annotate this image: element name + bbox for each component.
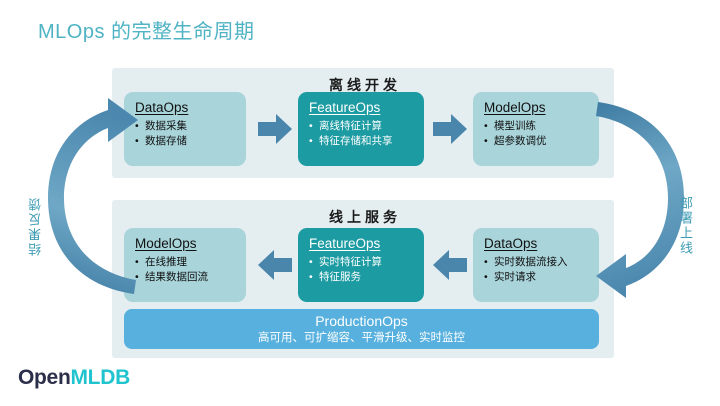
arrow-left-icon xyxy=(433,249,467,281)
bullet-item: 在线推理 xyxy=(135,255,246,270)
production-ops-title: ProductionOps xyxy=(124,312,599,330)
bullet-item: 结果数据回流 xyxy=(135,270,246,285)
bullet-item: 特征服务 xyxy=(309,270,424,285)
card-title: DataOps xyxy=(135,99,246,116)
card-bullet-list: 模型训练 超参数调优 xyxy=(484,119,599,149)
card-bullet-list: 实时特征计算 特征服务 xyxy=(309,255,424,285)
bullet-item: 实时请求 xyxy=(484,270,599,285)
card-online-dataops[interactable]: DataOps 实时数据流接入 实时请求 xyxy=(473,228,599,302)
bullet-item: 实时特征计算 xyxy=(309,255,424,270)
card-offline-featureops[interactable]: FeatureOps 离线特征计算 特征存储和共享 xyxy=(298,92,424,166)
bullet-item: 超参数调优 xyxy=(484,134,599,149)
feedback-curved-arrow-icon xyxy=(42,98,138,298)
arrow-right-icon xyxy=(433,113,467,145)
card-bullet-list: 实时数据流接入 实时请求 xyxy=(484,255,599,285)
label-result-feedback: 结果反馈 xyxy=(26,196,45,256)
card-title: FeatureOps xyxy=(309,99,424,116)
card-online-modelops[interactable]: ModelOps 在线推理 结果数据回流 xyxy=(124,228,246,302)
card-title: FeatureOps xyxy=(309,235,424,252)
openmldb-logo: OpenMLDB xyxy=(18,366,130,390)
card-offline-modelops[interactable]: ModelOps 模型训练 超参数调优 xyxy=(473,92,599,166)
bullet-item: 实时数据流接入 xyxy=(484,255,599,270)
card-bullet-list: 离线特征计算 特征存储和共享 xyxy=(309,119,424,149)
logo-text-open: Open xyxy=(18,366,70,389)
card-title: DataOps xyxy=(484,235,599,252)
label-deploy-online: 部署上线 xyxy=(676,196,695,256)
bullet-item: 离线特征计算 xyxy=(309,119,424,134)
page-title: MLOps 的完整生命周期 xyxy=(38,15,255,44)
card-bullet-list: 数据采集 数据存储 xyxy=(135,119,246,149)
online-panel-title: 线上服务 xyxy=(112,207,614,227)
production-ops-subtitle: 高可用、可扩缩容、平滑升级、实时监控 xyxy=(124,330,599,346)
production-ops-bar[interactable]: ProductionOps 高可用、可扩缩容、平滑升级、实时监控 xyxy=(124,309,599,349)
card-bullet-list: 在线推理 结果数据回流 xyxy=(135,255,246,285)
logo-text-mldb: MLDB xyxy=(70,366,129,389)
bullet-item: 模型训练 xyxy=(484,119,599,134)
bullet-item: 数据采集 xyxy=(135,119,246,134)
bullet-item: 特征存储和共享 xyxy=(309,134,424,149)
card-title: ModelOps xyxy=(135,235,246,252)
arrow-left-icon xyxy=(258,249,292,281)
card-online-featureops[interactable]: FeatureOps 实时特征计算 特征服务 xyxy=(298,228,424,302)
arrow-right-icon xyxy=(258,113,292,145)
slide-canvas: MLOps 的完整生命周期 离线开发 DataOps 数据采集 数据存储 Fea… xyxy=(0,0,720,406)
card-offline-dataops[interactable]: DataOps 数据采集 数据存储 xyxy=(124,92,246,166)
bullet-item: 数据存储 xyxy=(135,134,246,149)
card-title: ModelOps xyxy=(484,99,599,116)
